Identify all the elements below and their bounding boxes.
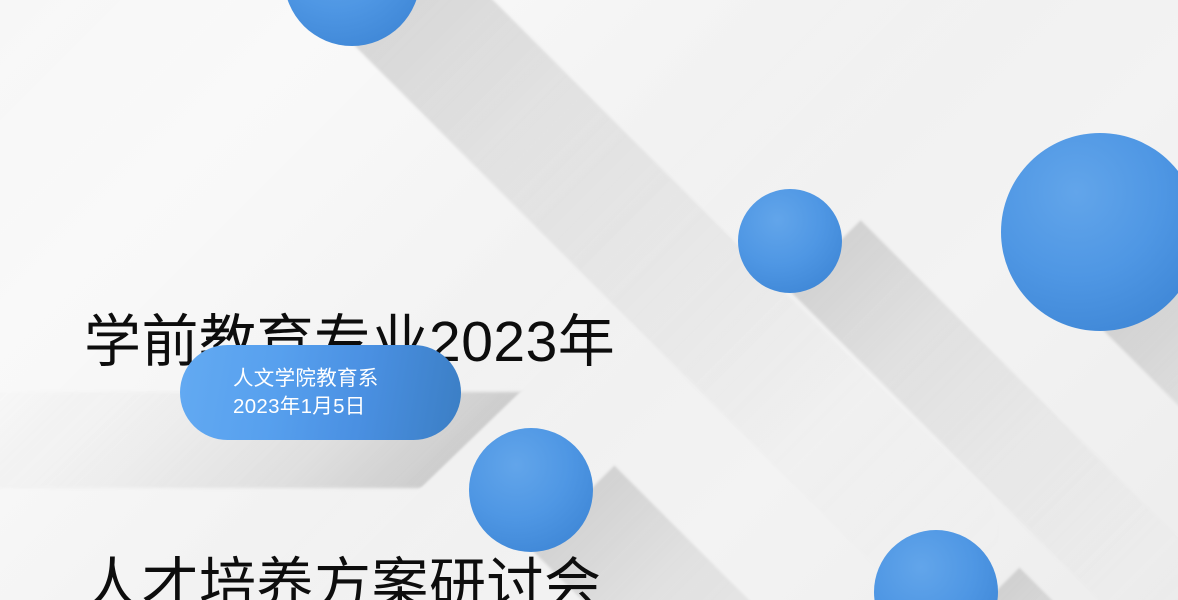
subtitle-pill: 人文学院教育系 2023年1月5日 xyxy=(180,345,461,440)
circle-mid-right-icon xyxy=(738,189,842,293)
title-line-2: 人才培养方案研讨会 xyxy=(84,545,724,600)
subtitle-line-2: 2023年1月5日 xyxy=(233,393,366,421)
presentation-slide: 学前教育专业2023年 人才培养方案研讨会 人文学院教育系 2023年1月5日 xyxy=(0,0,1178,600)
subtitle-line-1: 人文学院教育系 xyxy=(233,365,379,393)
